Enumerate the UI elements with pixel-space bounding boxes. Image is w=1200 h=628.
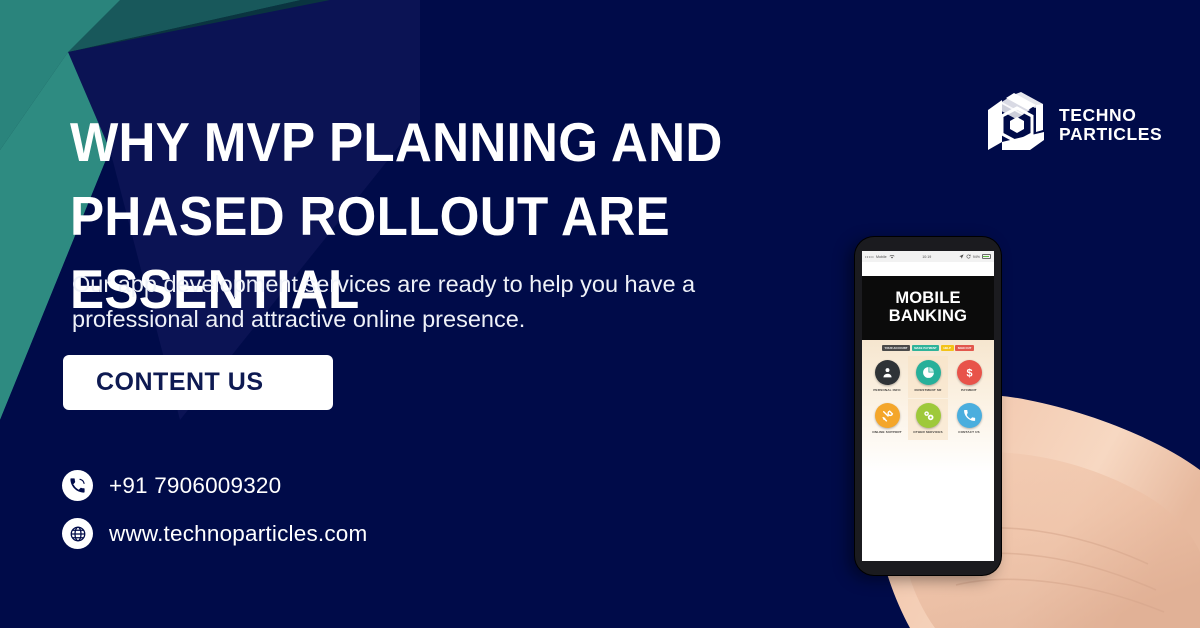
app-tile[interactable]: INVESTMENT SR [908, 356, 948, 398]
battery-icon [982, 254, 991, 259]
browser-blank-strip [862, 262, 994, 276]
app-brand-line1: MOBILE [862, 289, 994, 307]
app-body: YOUR ACCOUNTMAKE PAYMENTHELPSIGN OUT PER… [862, 340, 994, 561]
wifi-icon [889, 254, 895, 260]
app-tile-label: PAYMENT [961, 388, 977, 392]
phone-number: +91 7906009320 [109, 473, 281, 499]
subtitle: Our app development services are ready t… [72, 267, 702, 338]
app-nav-pill[interactable]: MAKE PAYMENT [912, 345, 940, 351]
app-nav-pill[interactable]: SIGN OUT [955, 345, 974, 351]
person-icon [875, 360, 900, 385]
app-brand-title: MOBILE BANKING [862, 276, 994, 340]
app-tile-grid: PERSONAL INFOINVESTMENT SR$PAYMENTONLINE… [862, 356, 994, 440]
svg-text:$: $ [966, 367, 972, 379]
signal-dots-icon: ••••• [865, 254, 874, 259]
rotation-lock-icon [966, 254, 971, 260]
wrench-icon [875, 403, 900, 428]
website-url: www.technoparticles.com [109, 521, 367, 547]
contact-info: +91 7906009320 www.technoparticles.com [62, 470, 367, 549]
phone-screen: ••••• Mobile 10:19 94% MOBILE [862, 251, 994, 561]
contact-phone-row[interactable]: +91 7906009320 [62, 470, 367, 501]
dollar-icon: $ [957, 360, 982, 385]
contact-website-row[interactable]: www.technoparticles.com [62, 518, 367, 549]
app-tile-label: INVESTMENT SR [914, 388, 941, 392]
app-tile-label: OTHER SERVICES [913, 430, 942, 434]
app-tile[interactable]: PERSONAL INFO [867, 356, 907, 398]
app-brand-line2: BANKING [862, 307, 994, 325]
promo-banner: TECHNO PARTICLES WHY MVP PLANNING AND PH… [0, 0, 1200, 628]
app-nav-pill[interactable]: HELP [941, 345, 954, 351]
app-tile[interactable]: OTHER SERVICES [908, 399, 948, 441]
phone-status-bar: ••••• Mobile 10:19 94% [862, 251, 994, 262]
pie-chart-icon [916, 360, 941, 385]
carrier-label: Mobile [876, 255, 887, 259]
app-tile[interactable]: ONLINE SUPPORT [867, 399, 907, 441]
battery-percent-label: 94% [973, 255, 980, 259]
app-tile[interactable]: CONTACT US [949, 399, 989, 441]
app-tile-label: PERSONAL INFO [873, 388, 900, 392]
app-nav-pill[interactable]: YOUR ACCOUNT [882, 345, 910, 351]
clock-label: 10:19 [922, 255, 931, 259]
app-nav-pills: YOUR ACCOUNTMAKE PAYMENTHELPSIGN OUT [862, 343, 994, 356]
location-arrow-icon [959, 254, 964, 260]
gears-icon [916, 403, 941, 428]
smartphone-device: ••••• Mobile 10:19 94% MOBILE [855, 237, 1001, 575]
app-tile[interactable]: $PAYMENT [949, 356, 989, 398]
globe-icon [62, 518, 93, 549]
call-icon [957, 403, 982, 428]
app-tile-label: ONLINE SUPPORT [872, 430, 902, 434]
app-tile-label: CONTACT US [958, 430, 980, 434]
contact-us-button[interactable]: CONTENT US [63, 355, 333, 410]
phone-icon [62, 470, 93, 501]
